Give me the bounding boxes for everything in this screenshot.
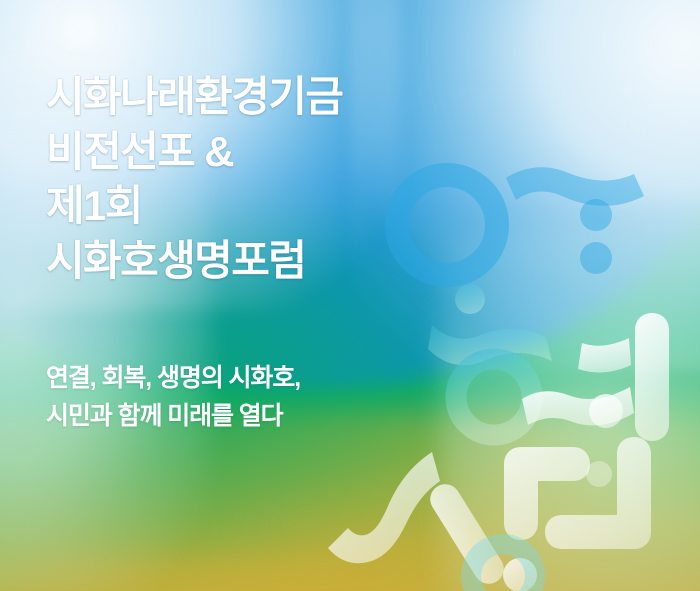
- headline-line-1: 시화나래환경기금: [46, 70, 566, 125]
- headline-line-3: 제1회: [46, 179, 566, 234]
- headline-line-4: 시화호생명포럼: [46, 234, 566, 289]
- headline-line-2: 비전선포 &: [46, 125, 566, 180]
- poster-text-content: 시화나래환경기금 비전선포 & 제1회 시화호생명포럼 연결, 회복, 생명의 …: [0, 0, 700, 591]
- subheadline-block: 연결, 회복, 생명의 시화호, 시민과 함께 미래를 열다: [46, 360, 466, 435]
- subheadline-line-1: 연결, 회복, 생명의 시화호,: [46, 360, 466, 398]
- subheadline-line-2: 시민과 함께 미래를 열다: [46, 398, 466, 436]
- event-poster: 시화나래환경기금 비전선포 & 제1회 시화호생명포럼 연결, 회복, 생명의 …: [0, 0, 700, 591]
- headline-block: 시화나래환경기금 비전선포 & 제1회 시화호생명포럼: [46, 70, 566, 288]
